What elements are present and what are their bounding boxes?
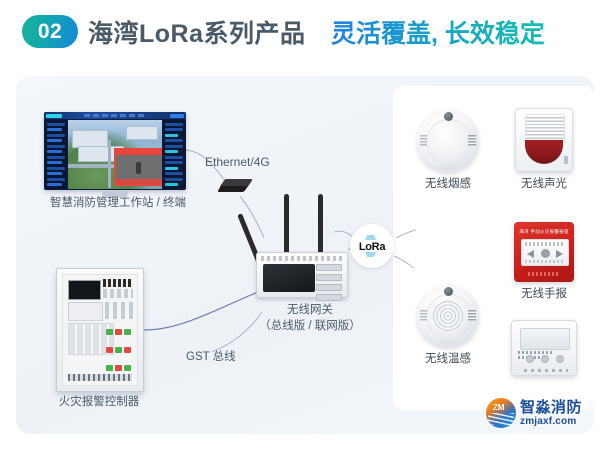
watermark-mark-text: ZM: [493, 403, 505, 412]
site-watermark: ZM 智淼消防 zmjaxf.com: [486, 396, 596, 430]
product-smoke-detector: 无线烟感: [404, 110, 492, 191]
dashboard-aerial-view: [68, 120, 162, 189]
ethernet-link-label: Ethernet/4G: [205, 155, 270, 169]
product-io-module: [500, 320, 588, 379]
workstation-monitor: [44, 112, 186, 190]
gateway-body: [256, 252, 348, 298]
lora-badge: LoRa: [350, 224, 394, 268]
product-label: 无线烟感: [404, 175, 492, 191]
wireless-gateway: [252, 186, 348, 298]
gateway-keypad: [316, 264, 342, 292]
monitor-bezel: [44, 112, 186, 190]
ethernet-device-icon: [222, 179, 252, 195]
product-label: 无线手报: [500, 285, 588, 301]
dashboard-left-panel: [45, 120, 67, 189]
lora-badge-text: LoRa: [355, 241, 389, 253]
workstation-label: 智慧消防管理工作站 / 终端: [30, 194, 206, 210]
product-sound-light-alarm: 无线声光: [500, 108, 588, 191]
gateway-screen: [263, 264, 315, 292]
product-manual-call-point: 海湾 手动火灾报警按钮 无线手报: [500, 222, 588, 301]
control-panel-label: 火灾报警控制器: [36, 393, 162, 409]
watermark-name-en: zmjaxf.com: [520, 417, 582, 427]
gateway-label: 无线网关 （总线版 / 联网版）: [243, 302, 377, 334]
topbar-left-chip: [46, 114, 62, 118]
facp-display: [68, 280, 101, 300]
dashboard-topbar: [44, 112, 186, 119]
heat-detector-icon: [417, 285, 479, 347]
watermark-logo-icon: ZM: [486, 398, 516, 428]
bus-link-label: GST 总线: [186, 348, 236, 364]
smoke-detector-icon: [417, 110, 479, 172]
sound-light-alarm-icon: [515, 108, 573, 172]
lora-logo-icon: LoRa: [355, 235, 389, 257]
watermark-name-cn: 智淼消防: [520, 400, 582, 415]
camera-inset: [114, 148, 162, 186]
manual-call-point-icon: 海湾 手动火灾报警按钮: [514, 222, 574, 282]
product-heat-detector: 无线温感: [404, 285, 492, 366]
facp-buttons: [105, 323, 133, 353]
product-label: 无线温感: [404, 350, 492, 366]
topbar-right-chip: [170, 114, 184, 118]
gateway-label-line2: （总线版 / 联网版）: [243, 318, 377, 334]
dashboard-right-panel: [163, 120, 185, 189]
io-module-icon: [511, 320, 577, 376]
mcp-brand-text: 海湾 手动火灾报警按钮: [519, 229, 569, 235]
topbar-menu: [84, 114, 146, 117]
facp-indicator-row: [103, 279, 133, 287]
gateway-label-line1: 无线网关: [243, 302, 377, 318]
product-label: 无线声光: [500, 175, 588, 191]
fire-alarm-control-panel: [56, 268, 144, 392]
